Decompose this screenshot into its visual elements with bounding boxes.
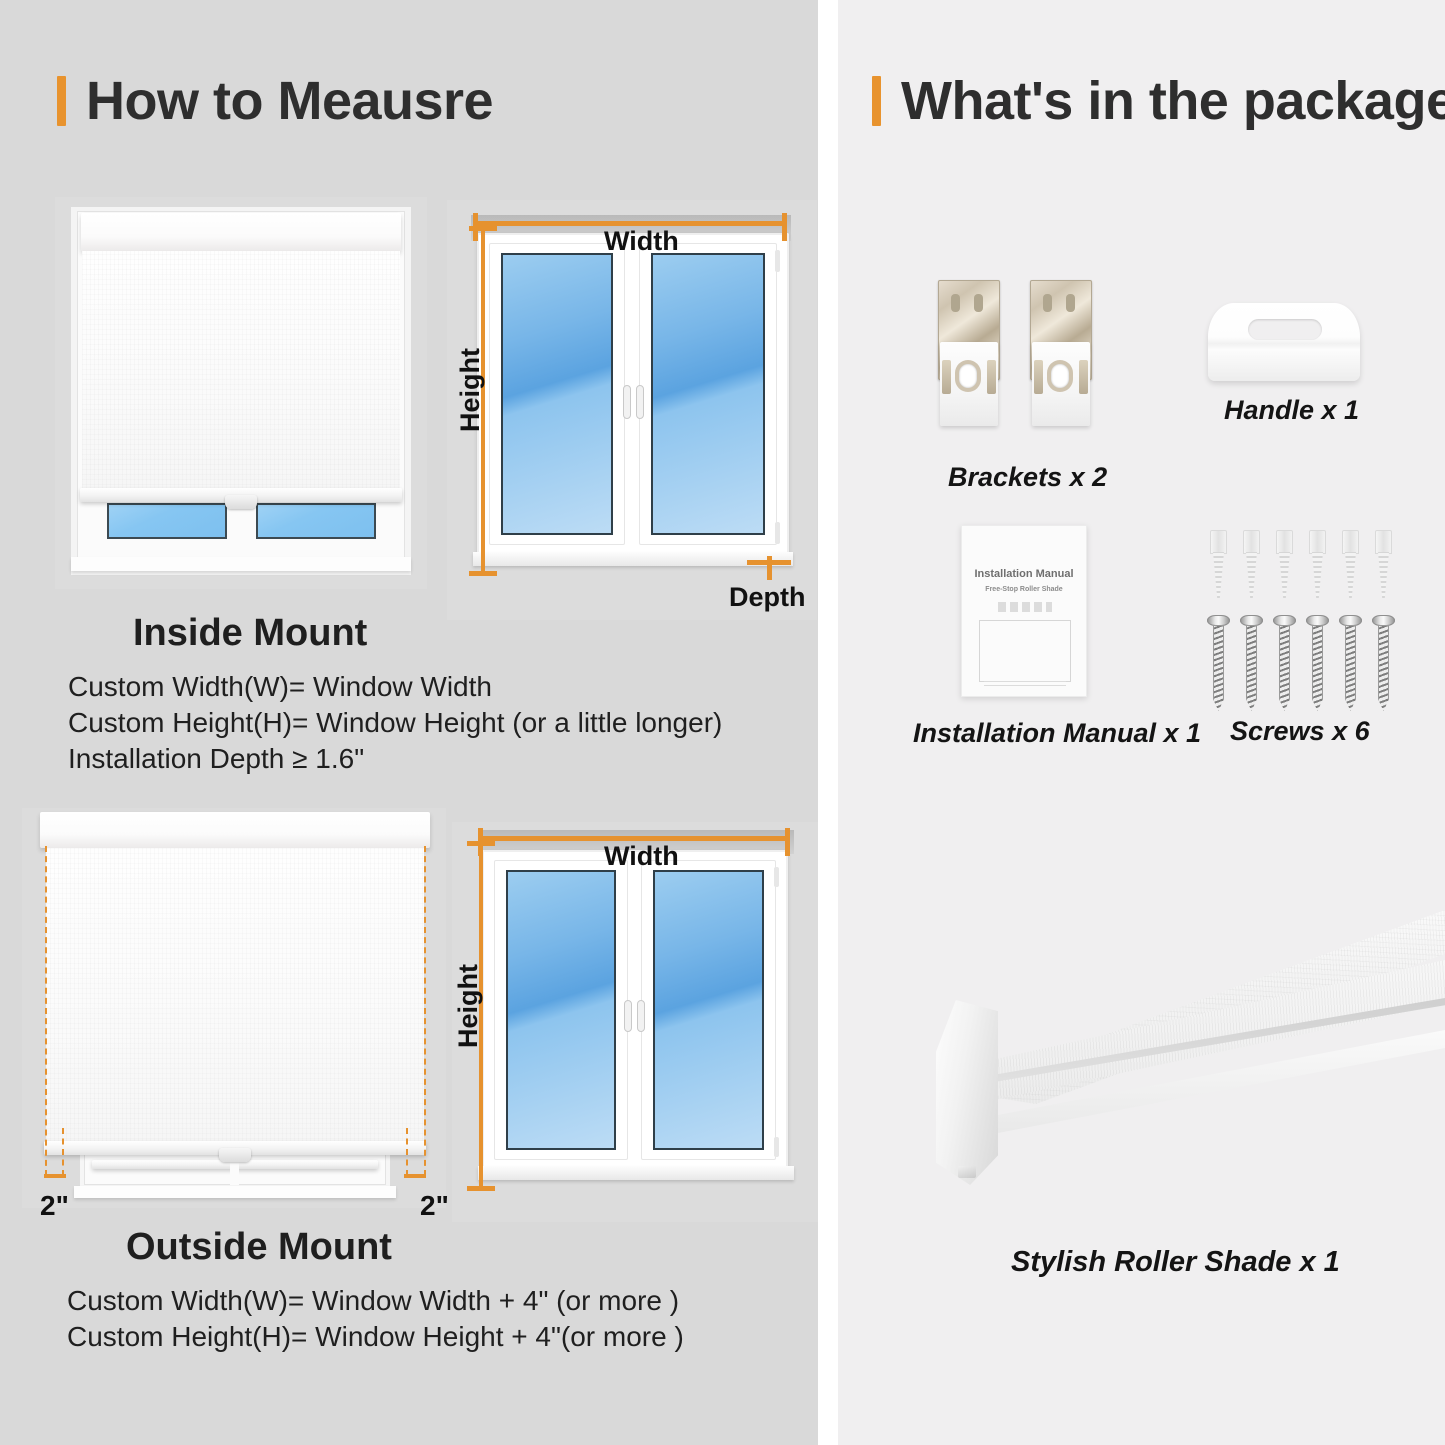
anchor-head [1210,530,1227,554]
height-label: Height [455,348,486,432]
roller-shade-label: Stylish Roller Shade x 1 [1011,1246,1340,1279]
width-label: Width [604,226,679,257]
screw-head [1339,615,1362,626]
window-sill [478,1166,794,1180]
outside-mount-title: Outside Mount [126,1226,392,1269]
bracket-mounting-hole [1051,364,1069,388]
wall-anchor-3 [1274,530,1295,598]
installation-manual-item: Installation Manual Free-Stop Roller Sha… [961,525,1087,697]
inside-mount-shade-illustration [55,197,427,589]
window-handle-right[interactable] [636,385,644,419]
screw-1 [1207,615,1230,711]
bracket-item-1 [938,280,1000,435]
anchor-head [1342,530,1359,554]
shade-pull-handle[interactable] [225,495,257,509]
height-label: Height [453,964,484,1048]
shade-fabric [82,251,400,490]
window-hinge-top [775,250,780,272]
outside-mount-measure-diagram: Width Height [452,822,818,1222]
anchor-head [1276,530,1293,554]
width-measure-tick-right [782,213,787,241]
depth-measure-tick [767,556,772,580]
roller-shade-end-pin [958,1166,976,1178]
window-handle-left[interactable] [624,1000,632,1032]
accent-bar-icon [57,76,66,126]
screw-head [1306,615,1329,626]
window-glass-left [107,503,227,539]
screw-head [1372,615,1395,626]
panel-divider [818,0,838,1445]
package-heading: What's in the package [872,74,1445,128]
overhang-left-measure-line [44,1174,66,1178]
anchor-head [1243,530,1260,554]
height-measure-tick-top [469,226,497,231]
manual-cover-title: Installation Manual [962,568,1086,580]
wall-anchor-2 [1241,530,1262,598]
wall-anchor-4 [1307,530,1328,598]
anchor-body [1378,552,1389,598]
overhang-left-dash-inner [62,1128,64,1176]
infographic-page: How to Meausre What's in the package [0,0,1445,1445]
window-glass-right [651,253,765,535]
bracket-slot-right [974,294,983,312]
window-hinge-top [774,867,779,887]
screw-head [1207,615,1230,626]
manual-cover-subtitle: Free-Stop Roller Shade [962,586,1086,593]
installation-manual-label: Installation Manual x 1 [913,718,1201,749]
shade-pull-handle[interactable] [219,1148,251,1162]
bracket-rail-right [987,360,996,394]
overhang-left-dash-outer [45,846,47,1176]
anchor-body [1312,552,1323,598]
bracket-item-2 [1030,280,1092,435]
package-heading-text: What's in the package [901,74,1445,128]
anchor-body [1345,552,1356,598]
screw-3 [1273,615,1296,711]
handle-grip-slot [1248,319,1322,340]
bracket-slot-right [1066,294,1075,312]
bracket-slot-left [951,294,960,312]
inside-mount-measure-diagram: Width Height Depth [447,200,817,620]
screw-shank [1279,625,1290,711]
bracket-mounting-hole [959,364,977,388]
window-hinge-bottom [774,1137,779,1157]
screw-5 [1339,615,1362,711]
wall-anchor-1 [1208,530,1229,598]
window-sill [71,557,411,571]
anchor-head [1309,530,1326,554]
bracket-rail-left [1034,360,1043,394]
bracket-rail-left [942,360,951,394]
outside-mount-line-2: Custom Height(H)= Window Height + 4"(or … [67,1321,684,1353]
overhang-right-dash-outer [424,846,426,1176]
manual-cover-detail-line [998,602,1052,612]
screw-shank [1246,625,1257,711]
window-glass-left [506,870,616,1150]
shade-valance [40,812,430,848]
overhang-left-label: 2" [40,1190,69,1222]
accent-bar-icon [872,76,881,126]
anchor-head [1375,530,1392,554]
roller-shade-front-face [940,960,1445,1180]
screws-label: Screws x 6 [1230,716,1370,747]
shade-fabric [46,848,424,1144]
inside-mount-line-2: Custom Height(H)= Window Height (or a li… [68,707,722,739]
window-handle-right[interactable] [637,1000,645,1032]
bracket-rail-right [1079,360,1088,394]
window-glass-right [256,503,376,539]
inside-mount-line-3: Installation Depth ≥ 1.6" [68,743,364,775]
screw-head [1273,615,1296,626]
bracket-slot-left [1043,294,1052,312]
screw-6 [1372,615,1395,711]
depth-label: Depth [729,582,806,613]
window-handle-left[interactable] [623,385,631,419]
handle-label: Handle x 1 [1224,395,1359,426]
handle-item [1208,303,1360,381]
how-to-measure-heading-text: How to Meausre [86,74,493,128]
outside-mount-line-1: Custom Width(W)= Window Width + 4" (or m… [67,1285,679,1317]
outside-mount-shade-illustration [22,808,446,1208]
anchor-body [1213,552,1224,598]
anchor-body [1246,552,1257,598]
manual-cover-footer-lines [984,678,1066,686]
width-label: Width [604,841,679,872]
window-glass-right [653,870,764,1150]
anchor-body [1279,552,1290,598]
screw-2 [1240,615,1263,711]
overhang-right-label: 2" [420,1190,449,1222]
width-measure-tick-right [785,828,790,856]
height-measure-tick-bottom [469,571,497,576]
how-to-measure-heading: How to Meausre [57,74,493,128]
window-hinge-bottom [775,522,780,544]
overhang-right-dash-inner [406,1128,408,1176]
wall-anchor-5 [1340,530,1361,598]
height-measure-tick-top [467,841,495,846]
window-sill [473,552,793,566]
overhang-right-measure-line [404,1174,426,1178]
manual-cover-illustration-box [979,620,1071,682]
wall-anchor-6 [1373,530,1394,598]
inside-mount-line-1: Custom Width(W)= Window Width [68,671,492,703]
shade-valance [81,213,401,251]
brackets-label: Brackets x 2 [948,462,1107,493]
window-glass-left [501,253,613,535]
screw-head [1240,615,1263,626]
screw-shank [1213,625,1224,711]
screw-shank [1345,625,1356,711]
inside-mount-title: Inside Mount [133,612,367,655]
roller-shade-product-image [900,880,1445,1220]
screw-4 [1306,615,1329,711]
screw-shank [1312,625,1323,711]
roller-shade-end-cap [936,1000,998,1185]
height-measure-tick-bottom [467,1186,495,1191]
window-sill [74,1186,396,1198]
screw-shank [1378,625,1389,711]
